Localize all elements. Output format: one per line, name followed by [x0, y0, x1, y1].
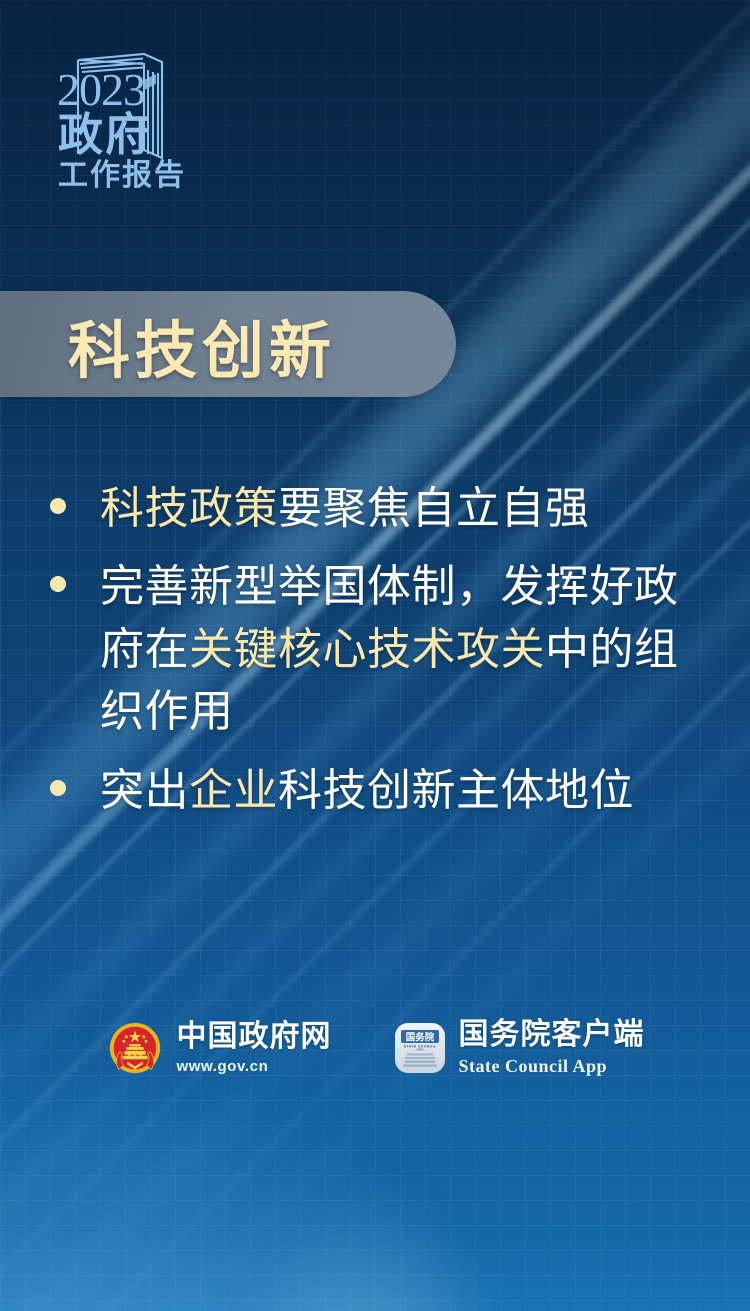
- bullet-list: 科技政策要聚焦自立自强 完善新型举国体制，发挥好政府在关键核心技术攻关中的组织作…: [42, 478, 714, 838]
- logo-year: 2023: [57, 64, 145, 115]
- logo-line2: 工作报告: [58, 159, 186, 192]
- brand-name-sub: State Council App: [459, 1055, 645, 1078]
- government-work-report-logo: 2023 政府 工作报告: [44, 42, 190, 192]
- highlighted-text: 科技政策: [100, 484, 278, 533]
- bullet-dot-icon: [50, 498, 66, 514]
- logo-line1: 政府: [58, 109, 152, 160]
- brand-state-council-app[interactable]: 国务院 STATE COUNCIL 国务院客户端 State Council A…: [394, 1018, 645, 1078]
- bullet-text: 突出企业科技创新主体地位: [100, 760, 714, 822]
- brand-name-sub: www.gov.cn: [177, 1057, 332, 1077]
- svg-text:国务院: 国务院: [405, 1031, 434, 1043]
- bullet-text: 科技政策要聚焦自立自强: [100, 478, 714, 540]
- brand-name-cn: 国务院客户端: [459, 1018, 645, 1052]
- plain-text: 科技创新主体地位: [278, 766, 634, 815]
- highlighted-text: 企业: [189, 766, 278, 815]
- plain-text: 突出: [100, 766, 189, 815]
- bullet-dot-icon: [50, 576, 66, 592]
- brand-name-cn: 中国政府网: [177, 1020, 332, 1054]
- bullet-dot-icon: [50, 780, 66, 796]
- list-item: 科技政策要聚焦自立自强: [42, 478, 714, 540]
- national-emblem-icon: [106, 1019, 164, 1077]
- poster-root: 2023 政府 工作报告 科技创新 科技政策要聚焦自立自强 完善新型举国体制，发…: [0, 0, 750, 1311]
- bottom-corner-glow: [195, 1180, 540, 1311]
- bottom-left-glow: [0, 1049, 510, 1311]
- bullet-text: 完善新型举国体制，发挥好政府在关键核心技术攻关中的组织作用: [100, 556, 714, 743]
- footer-brands: 中国政府网 www.gov.cn 国务院 STATE COUNCIL: [0, 1018, 750, 1078]
- list-item: 完善新型举国体制，发挥好政府在关键核心技术攻关中的组织作用: [42, 556, 714, 743]
- section-title: 科技创新: [68, 292, 336, 398]
- state-council-app-icon: 国务院 STATE COUNCIL: [394, 1022, 446, 1074]
- list-item: 突出企业科技创新主体地位: [42, 760, 714, 822]
- highlighted-text: 关键核心技术攻关: [189, 625, 545, 674]
- brand-china-gov[interactable]: 中国政府网 www.gov.cn: [106, 1019, 332, 1077]
- plain-text: 要聚焦自立自强: [278, 484, 590, 533]
